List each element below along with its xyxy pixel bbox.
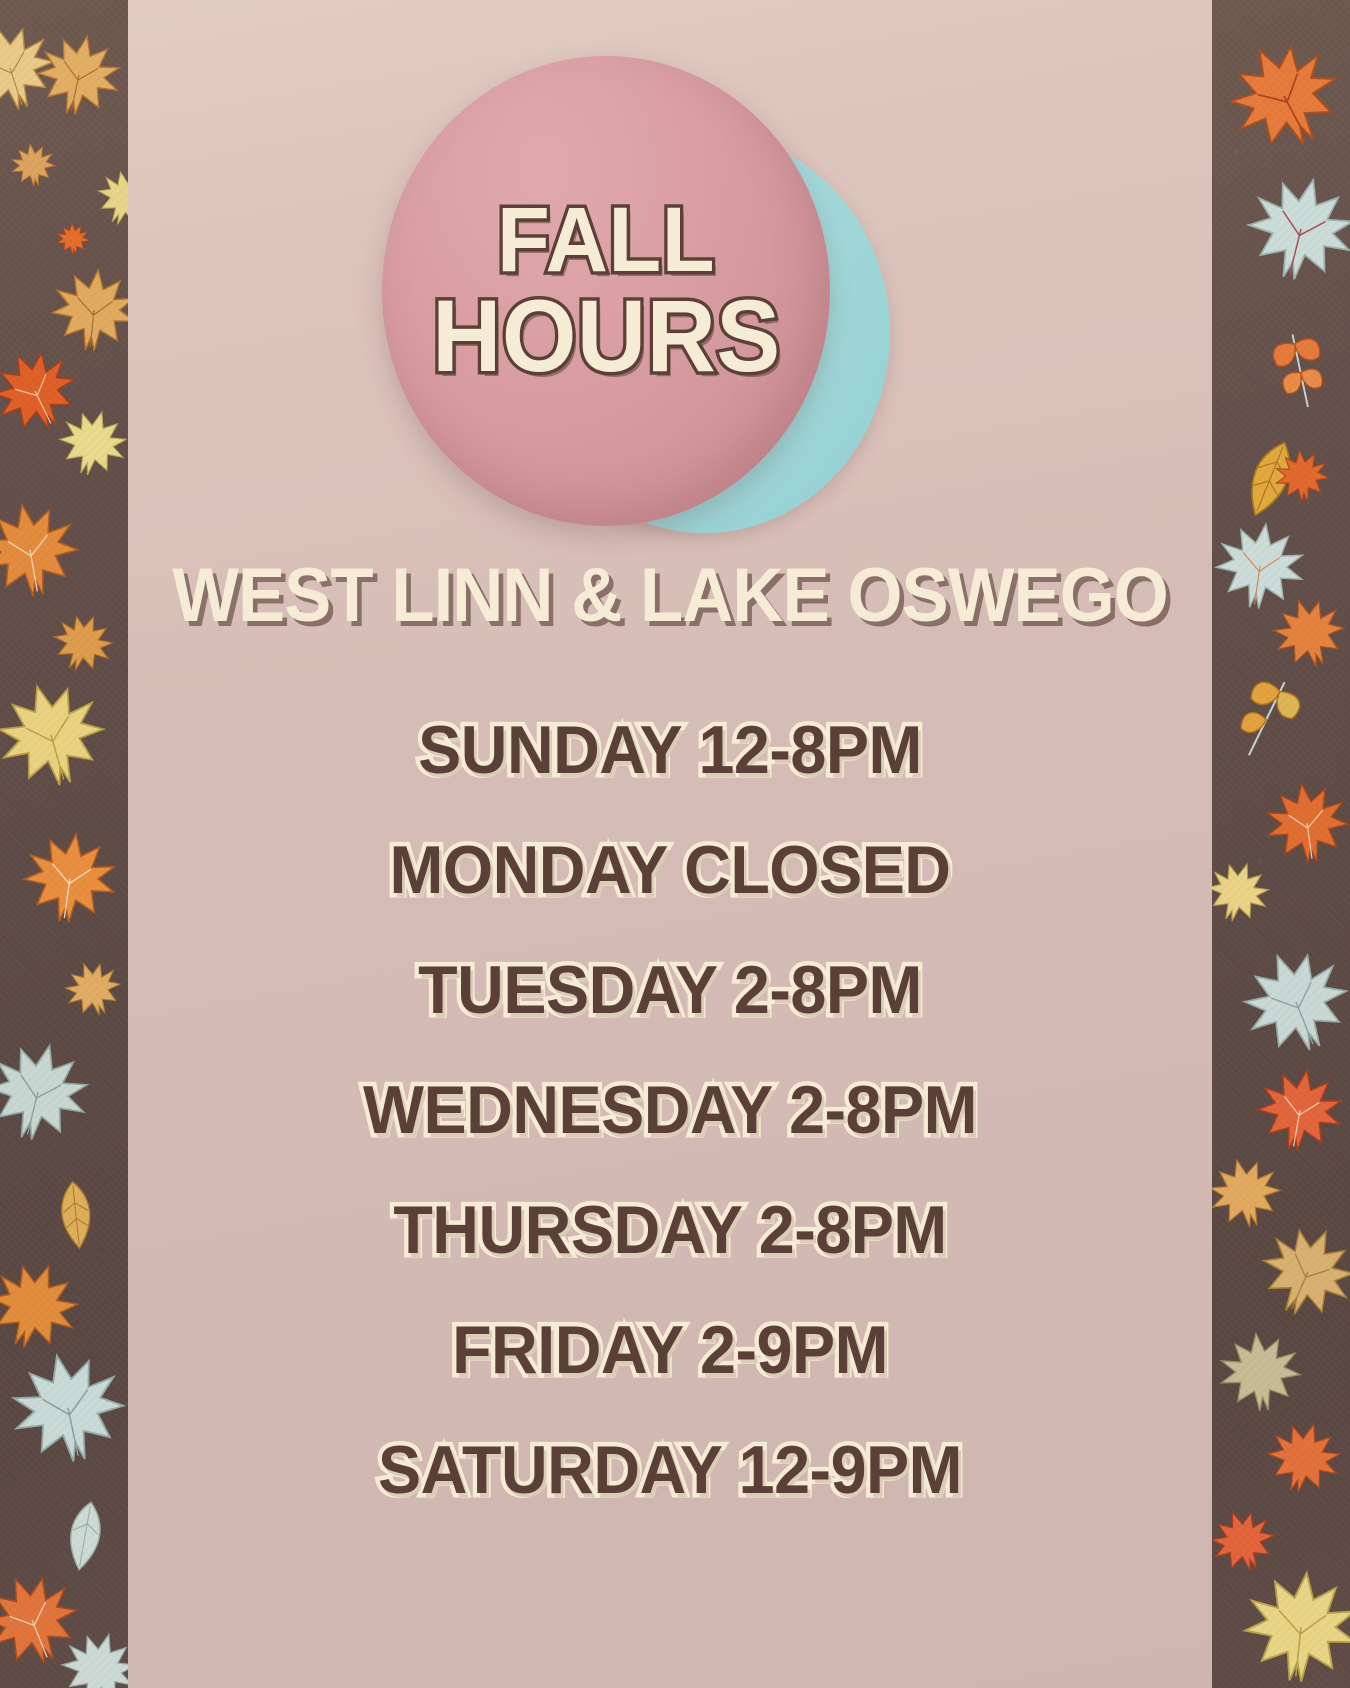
maple-leaf-icon [1249, 1059, 1350, 1161]
hours-row: SATURDAY 12-9PM [155, 1436, 1185, 1504]
birch-leaf-icon [43, 1177, 110, 1253]
fall-hours-poster: FALL HOURS WEST LINN & LAKE OSWEGO SUNDA… [0, 0, 1350, 1688]
maple-leaf-icon [16, 824, 124, 932]
hours-list: SUNDAY 12-8PM MONDAY CLOSED TUESDAY 2-8P… [128, 716, 1212, 1504]
hours-row: SUNDAY 12-8PM [155, 716, 1185, 784]
hours-row: THURSDAY 2-8PM [155, 1196, 1185, 1264]
hours-row: FRIDAY 2-9PM [155, 1316, 1185, 1384]
badge-text-group: FALL HOURS [382, 56, 830, 526]
badge-line-fall: FALL [497, 196, 715, 284]
maple-leaf-icon [1214, 1326, 1306, 1418]
maple-leaf-icon [1245, 1209, 1350, 1336]
maple-leaf-icon [56, 952, 128, 1026]
badge-line-hours: HOURS [432, 288, 781, 386]
hours-row: MONDAY CLOSED [155, 836, 1185, 904]
maple-leaf-icon [0, 667, 119, 803]
maple-leaf-icon [1236, 1562, 1350, 1688]
hours-row: WEDNESDAY 2-8PM [155, 1076, 1185, 1144]
maple-leaf-icon [1257, 1411, 1350, 1505]
maple-leaf-icon [0, 1029, 101, 1155]
hours-row: TUESDAY 2-8PM [155, 956, 1185, 1024]
fall-hours-badge: FALL HOURS [0, 28, 1350, 548]
locations-headline: WEST LINN & LAKE OSWEGO [166, 558, 1174, 634]
maple-leaf-icon [0, 1339, 128, 1477]
maple-leaf-icon [1226, 932, 1350, 1073]
maple-leaf-icon [1258, 774, 1350, 871]
